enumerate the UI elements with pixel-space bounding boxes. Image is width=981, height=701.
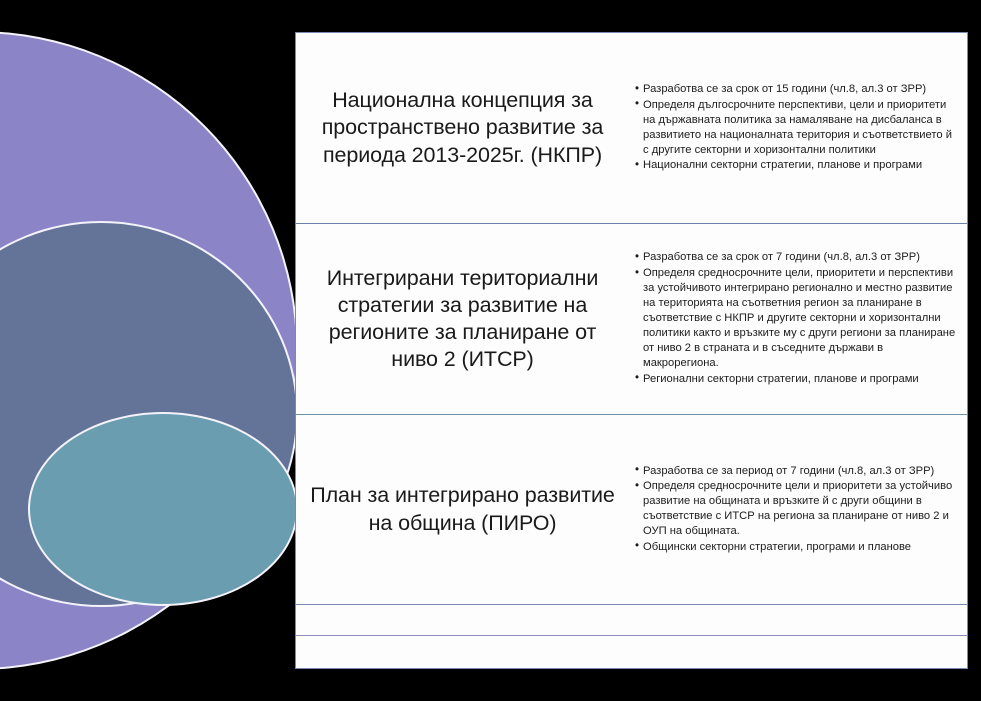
- list-item: Определя средносрочните цели, приоритети…: [635, 266, 957, 371]
- concentric-rings-graphic: [0, 0, 296, 701]
- list-item: Разработва се за период от 7 години (чл.…: [635, 464, 957, 479]
- table-row: Интегрирани териториални стратегии за ра…: [296, 224, 967, 415]
- list-item: Определя дългосрочните перспективи, цели…: [635, 98, 957, 158]
- bullet-list: Разработва се за период от 7 години (чл.…: [635, 464, 957, 556]
- row-bullets-cell: Разработва се за период от 7 години (чл.…: [631, 415, 967, 604]
- bullet-list: Разработва се за срок от 7 години (чл.8,…: [635, 250, 957, 387]
- inner-ring-municipal: [28, 412, 296, 606]
- row-title-cell: [296, 605, 631, 635]
- row-bullets-cell: [631, 605, 967, 635]
- table-row-empty: [296, 605, 967, 636]
- table-row: Национална концепция за пространствено р…: [296, 33, 967, 224]
- list-item: Разработва се за срок от 7 години (чл.8,…: [635, 250, 957, 265]
- row-title-text: План за интегрирано развитие на община (…: [310, 482, 615, 536]
- row-title-cell: [296, 636, 631, 668]
- table-row: План за интегрирано развитие на община (…: [296, 415, 967, 605]
- row-title-text: Интегрирани териториални стратегии за ра…: [310, 265, 615, 373]
- table-row-empty: [296, 636, 967, 668]
- bullet-list: Разработва се за срок от 15 години (чл.8…: [635, 82, 957, 174]
- list-item: Общински секторни стратегии, програми и …: [635, 540, 957, 555]
- row-title-text: Национална концепция за пространствено р…: [310, 87, 615, 168]
- list-item: Определя средносрочните цели и приоритет…: [635, 479, 957, 539]
- list-item: Регионални секторни стратегии, планове и…: [635, 372, 957, 387]
- row-bullets-cell: Разработва се за срок от 15 години (чл.8…: [631, 33, 967, 223]
- row-title-cell: Интегрирани териториални стратегии за ра…: [296, 224, 631, 414]
- list-item: Национални секторни стратегии, планове и…: [635, 158, 957, 173]
- row-title-cell: Национална концепция за пространствено р…: [296, 33, 631, 223]
- row-title-cell: План за интегрирано развитие на община (…: [296, 415, 631, 604]
- content-panel: Национална концепция за пространствено р…: [295, 32, 968, 669]
- list-item: Разработва се за срок от 15 години (чл.8…: [635, 82, 957, 97]
- row-bullets-cell: Разработва се за срок от 7 години (чл.8,…: [631, 224, 967, 414]
- diagram-canvas: Национална концепция за пространствено р…: [0, 0, 981, 701]
- row-bullets-cell: [631, 636, 967, 668]
